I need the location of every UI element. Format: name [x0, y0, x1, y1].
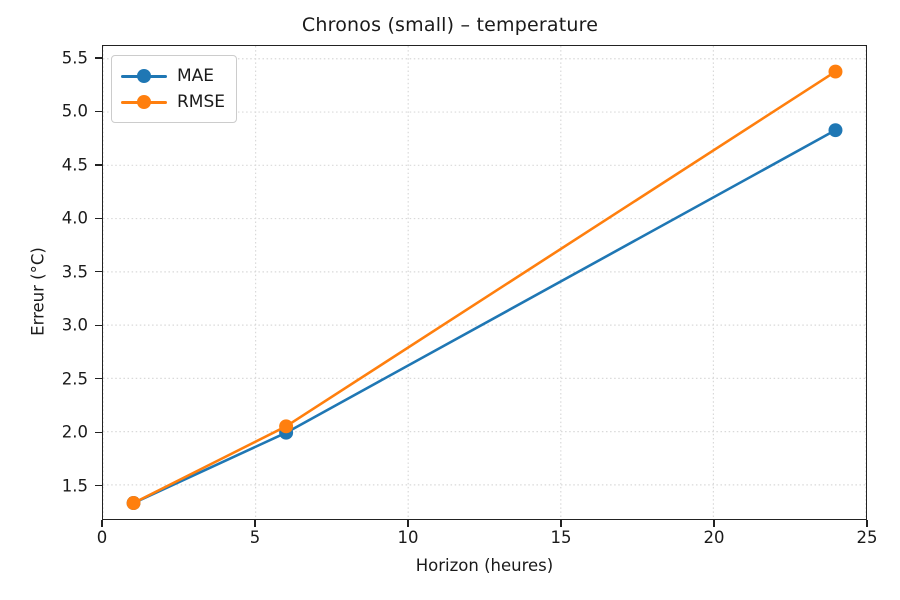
- data-point-marker: [279, 419, 293, 433]
- y-tick-label: 2.0: [62, 423, 88, 442]
- x-tick-mark: [866, 520, 867, 527]
- y-tick-mark: [95, 218, 102, 219]
- y-tick-mark: [95, 378, 102, 379]
- legend-label: RMSE: [177, 92, 225, 112]
- y-tick-label: 3.5: [62, 262, 88, 281]
- x-tick-mark: [560, 520, 561, 527]
- x-tick-label: 0: [97, 528, 108, 547]
- series-line-rmse: [134, 72, 836, 503]
- x-tick-label: 10: [398, 528, 419, 547]
- chart-legend: MAERMSE: [111, 55, 237, 123]
- y-tick-label: 5.5: [62, 48, 88, 67]
- y-tick-label: 2.5: [62, 369, 88, 388]
- y-tick-mark: [95, 485, 102, 486]
- y-tick-label: 3.0: [62, 316, 88, 335]
- chart-figure: Chronos (small) – temperature 1.52.02.53…: [0, 0, 900, 600]
- y-axis-label: Erreur (°C): [29, 162, 48, 422]
- x-tick-label: 15: [551, 528, 572, 547]
- x-tick-mark: [254, 520, 255, 527]
- series-line-mae: [134, 130, 836, 503]
- x-tick-label: 5: [250, 528, 261, 547]
- x-tick-mark: [101, 520, 102, 527]
- y-tick-label: 5.0: [62, 102, 88, 121]
- y-tick-mark: [95, 271, 102, 272]
- data-point-marker: [828, 123, 842, 137]
- x-tick-mark: [407, 520, 408, 527]
- legend-label: MAE: [177, 66, 214, 86]
- x-tick-mark: [713, 520, 714, 527]
- data-point-marker: [828, 65, 842, 79]
- legend-item-rmse[interactable]: RMSE: [121, 89, 225, 115]
- y-tick-label: 4.0: [62, 209, 88, 228]
- chart-title: Chronos (small) – temperature: [0, 14, 900, 36]
- x-tick-label: 25: [857, 528, 878, 547]
- data-point-marker: [127, 496, 141, 510]
- y-tick-mark: [95, 432, 102, 433]
- legend-item-mae[interactable]: MAE: [121, 63, 225, 89]
- y-tick-mark: [95, 57, 102, 58]
- y-tick-mark: [95, 325, 102, 326]
- y-tick-label: 4.5: [62, 155, 88, 174]
- legend-swatch-icon: [121, 92, 167, 112]
- y-tick-label: 1.5: [62, 476, 88, 495]
- x-tick-label: 20: [704, 528, 725, 547]
- x-axis-label: Horizon (heures): [102, 556, 867, 575]
- y-tick-mark: [95, 164, 102, 165]
- y-tick-mark: [95, 111, 102, 112]
- legend-swatch-icon: [121, 66, 167, 86]
